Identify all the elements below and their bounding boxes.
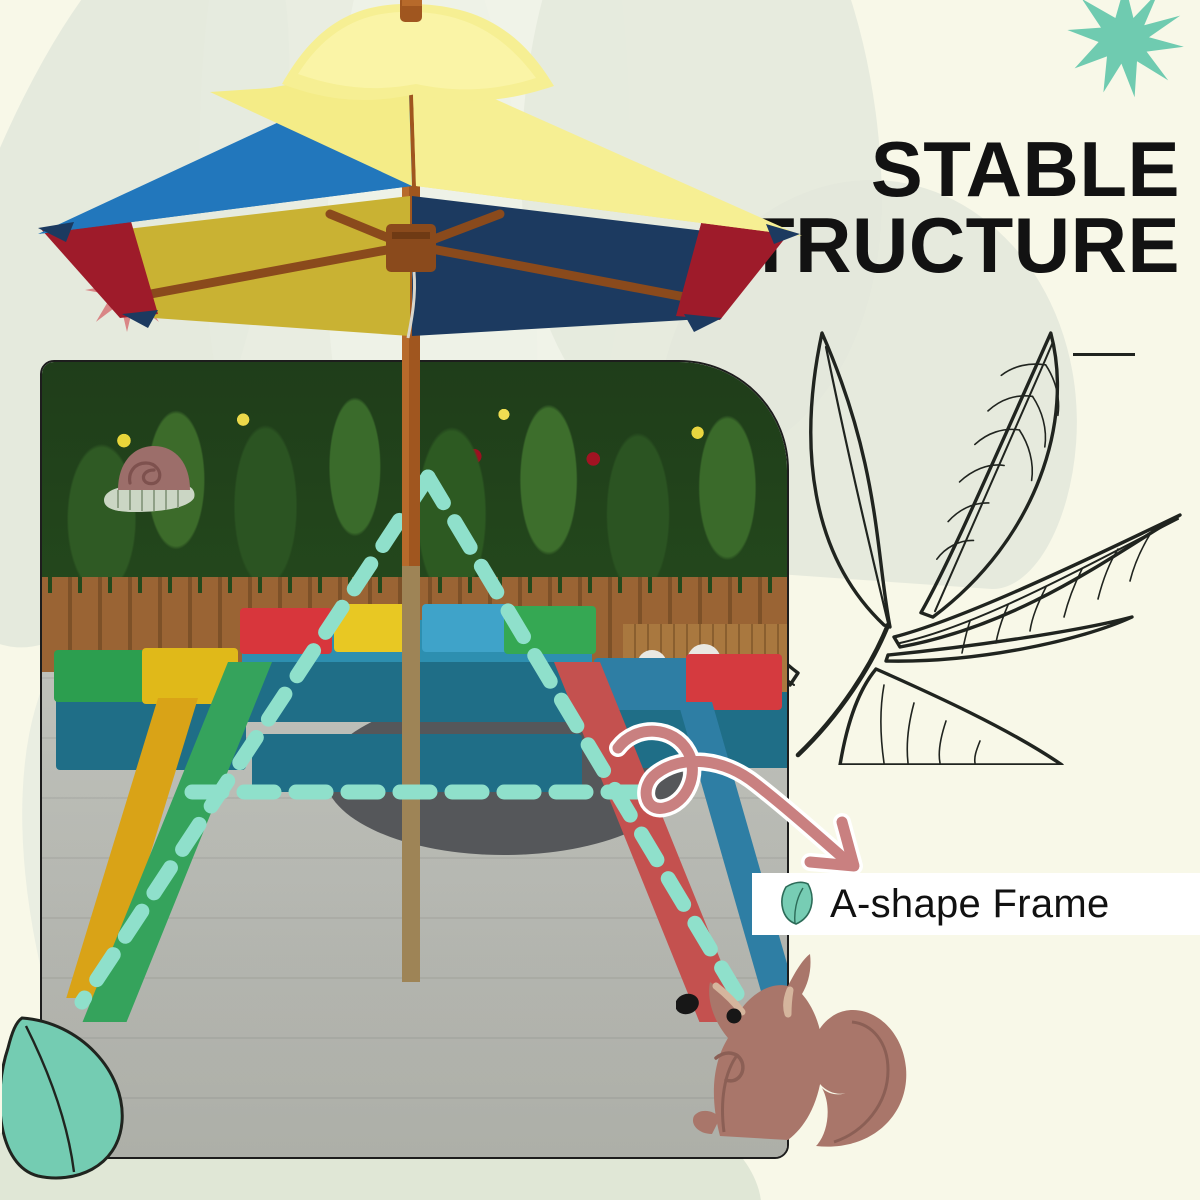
starburst-teal-icon	[1040, 0, 1200, 102]
a-shape-frame-badge[interactable]: A-shape Frame	[752, 873, 1200, 935]
poster-canvas: STABLE STRUCTURE	[0, 0, 1200, 1200]
leaf-icon	[778, 881, 816, 927]
badge-label: A-shape Frame	[830, 882, 1110, 927]
squirrel-mascot	[676, 946, 916, 1161]
curly-arrow	[596, 712, 896, 892]
parasol-umbrella	[30, 0, 820, 596]
leaf-icon	[2, 1000, 132, 1185]
botanical-branch-line-art	[780, 325, 1200, 765]
